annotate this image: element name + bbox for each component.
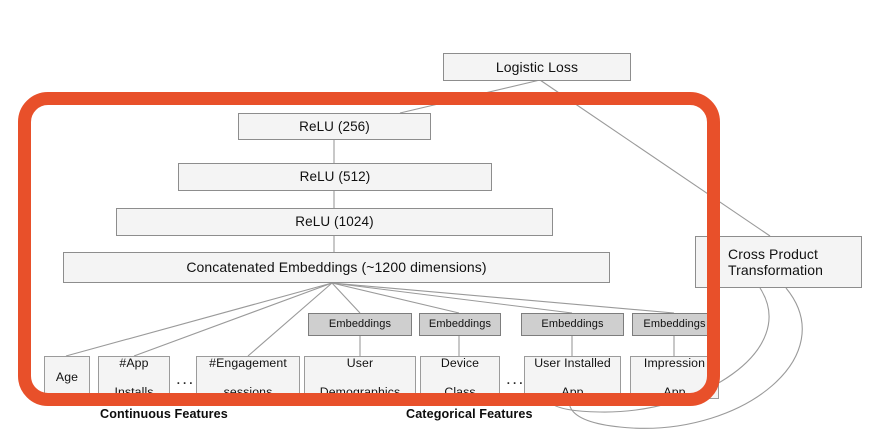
feature-user-installed-app-line-2: App <box>530 385 615 399</box>
feature-device-class-line-2: Class <box>437 385 483 399</box>
node-embeddings-2-label: Embeddings <box>425 318 495 331</box>
caption-continuous-features-label: Continuous Features <box>100 407 228 421</box>
edge-concat-to-app <box>134 283 332 356</box>
cross-product-line-1: Cross Product <box>724 246 827 262</box>
feature-app-installs-line-1: #App <box>110 356 157 370</box>
feature-user-demographics-line-1: User <box>316 356 404 370</box>
feature-app-installs[interactable]: #AppInstalls <box>98 356 170 399</box>
feature-impression-app[interactable]: ImpressionApp <box>630 356 719 399</box>
edge-concat-to-emb4 <box>332 283 674 313</box>
node-logistic-loss-label: Logistic Loss <box>492 59 582 75</box>
feature-engagement-sessions-label: #Engagementsessions <box>201 356 295 399</box>
feature-device-class-line-1: Device <box>437 356 483 370</box>
edge-concat-to-emb3 <box>332 283 572 313</box>
feature-device-class-label: DeviceClass <box>433 356 487 399</box>
node-relu-256[interactable]: ReLU (256) <box>238 113 431 140</box>
feature-impression-app-line-2: App <box>640 385 709 399</box>
feature-impression-app-line-1: Impression <box>640 356 709 370</box>
feature-age[interactable]: Age <box>44 356 90 399</box>
feature-age-label: Age <box>48 370 86 384</box>
edge-concat-to-emb1 <box>332 283 360 313</box>
feature-app-installs-line-2: Installs <box>110 385 157 399</box>
node-embeddings-3[interactable]: Embeddings <box>521 313 624 336</box>
feature-user-installed-app[interactable]: User InstalledApp <box>524 356 621 399</box>
feature-user-demographics-label: UserDemographics <box>312 356 408 399</box>
node-relu-1024-label: ReLU (1024) <box>291 214 377 230</box>
caption-categorical-features-label: Categorical Features <box>406 407 533 421</box>
edge-concat-to-emb2 <box>332 283 459 313</box>
edge-loss-to-cross-product <box>540 80 770 236</box>
node-embeddings-1[interactable]: Embeddings <box>308 313 412 336</box>
edge-concat-to-age <box>66 283 332 356</box>
node-embeddings-2[interactable]: Embeddings <box>419 313 501 336</box>
diagram-canvas: Logistic Loss ReLU (256) ReLU (512) ReLU… <box>0 0 876 438</box>
feature-user-demographics-line-2: Demographics <box>316 385 404 399</box>
node-embeddings-4-label: Embeddings <box>639 318 709 331</box>
node-relu-512-label: ReLU (512) <box>296 169 375 185</box>
feature-impression-app-label: ImpressionApp <box>636 356 713 399</box>
feature-engagement-sessions-line-2: sessions <box>205 385 291 399</box>
ellipsis-continuous-glyph: ... <box>176 369 195 388</box>
edge-loss-to-relu256 <box>400 80 540 113</box>
feature-user-demographics[interactable]: UserDemographics <box>304 356 416 399</box>
feature-device-class[interactable]: DeviceClass <box>420 356 500 399</box>
node-cross-product-transformation-label: Cross ProductTransformation <box>720 246 831 278</box>
node-embeddings-1-label: Embeddings <box>325 318 395 331</box>
node-embeddings-4[interactable]: Embeddings <box>632 313 717 336</box>
node-logistic-loss[interactable]: Logistic Loss <box>443 53 631 81</box>
feature-user-installed-app-label: User InstalledApp <box>526 356 619 399</box>
ellipsis-categorical-glyph: ... <box>506 369 525 388</box>
feature-age-line-1: Age <box>52 370 82 384</box>
node-embeddings-3-label: Embeddings <box>537 318 607 331</box>
feature-user-installed-app-line-1: User Installed <box>530 356 615 370</box>
cross-product-line-2: Transformation <box>724 262 827 278</box>
node-concatenated-embeddings-label: Concatenated Embeddings (~1200 dimension… <box>182 259 490 275</box>
node-relu-256-label: ReLU (256) <box>295 119 374 135</box>
feature-engagement-sessions-line-1: #Engagement <box>205 356 291 370</box>
node-relu-512[interactable]: ReLU (512) <box>178 163 492 191</box>
node-concatenated-embeddings[interactable]: Concatenated Embeddings (~1200 dimension… <box>63 252 610 283</box>
ellipsis-categorical: ... <box>506 370 525 387</box>
caption-categorical-features: Categorical Features <box>406 407 533 421</box>
caption-continuous-features: Continuous Features <box>100 407 228 421</box>
feature-engagement-sessions[interactable]: #Engagementsessions <box>196 356 300 399</box>
node-relu-1024[interactable]: ReLU (1024) <box>116 208 553 236</box>
ellipsis-continuous: ... <box>176 370 195 387</box>
node-cross-product-transformation[interactable]: Cross ProductTransformation <box>695 236 862 288</box>
feature-app-installs-label: #AppInstalls <box>106 356 161 399</box>
